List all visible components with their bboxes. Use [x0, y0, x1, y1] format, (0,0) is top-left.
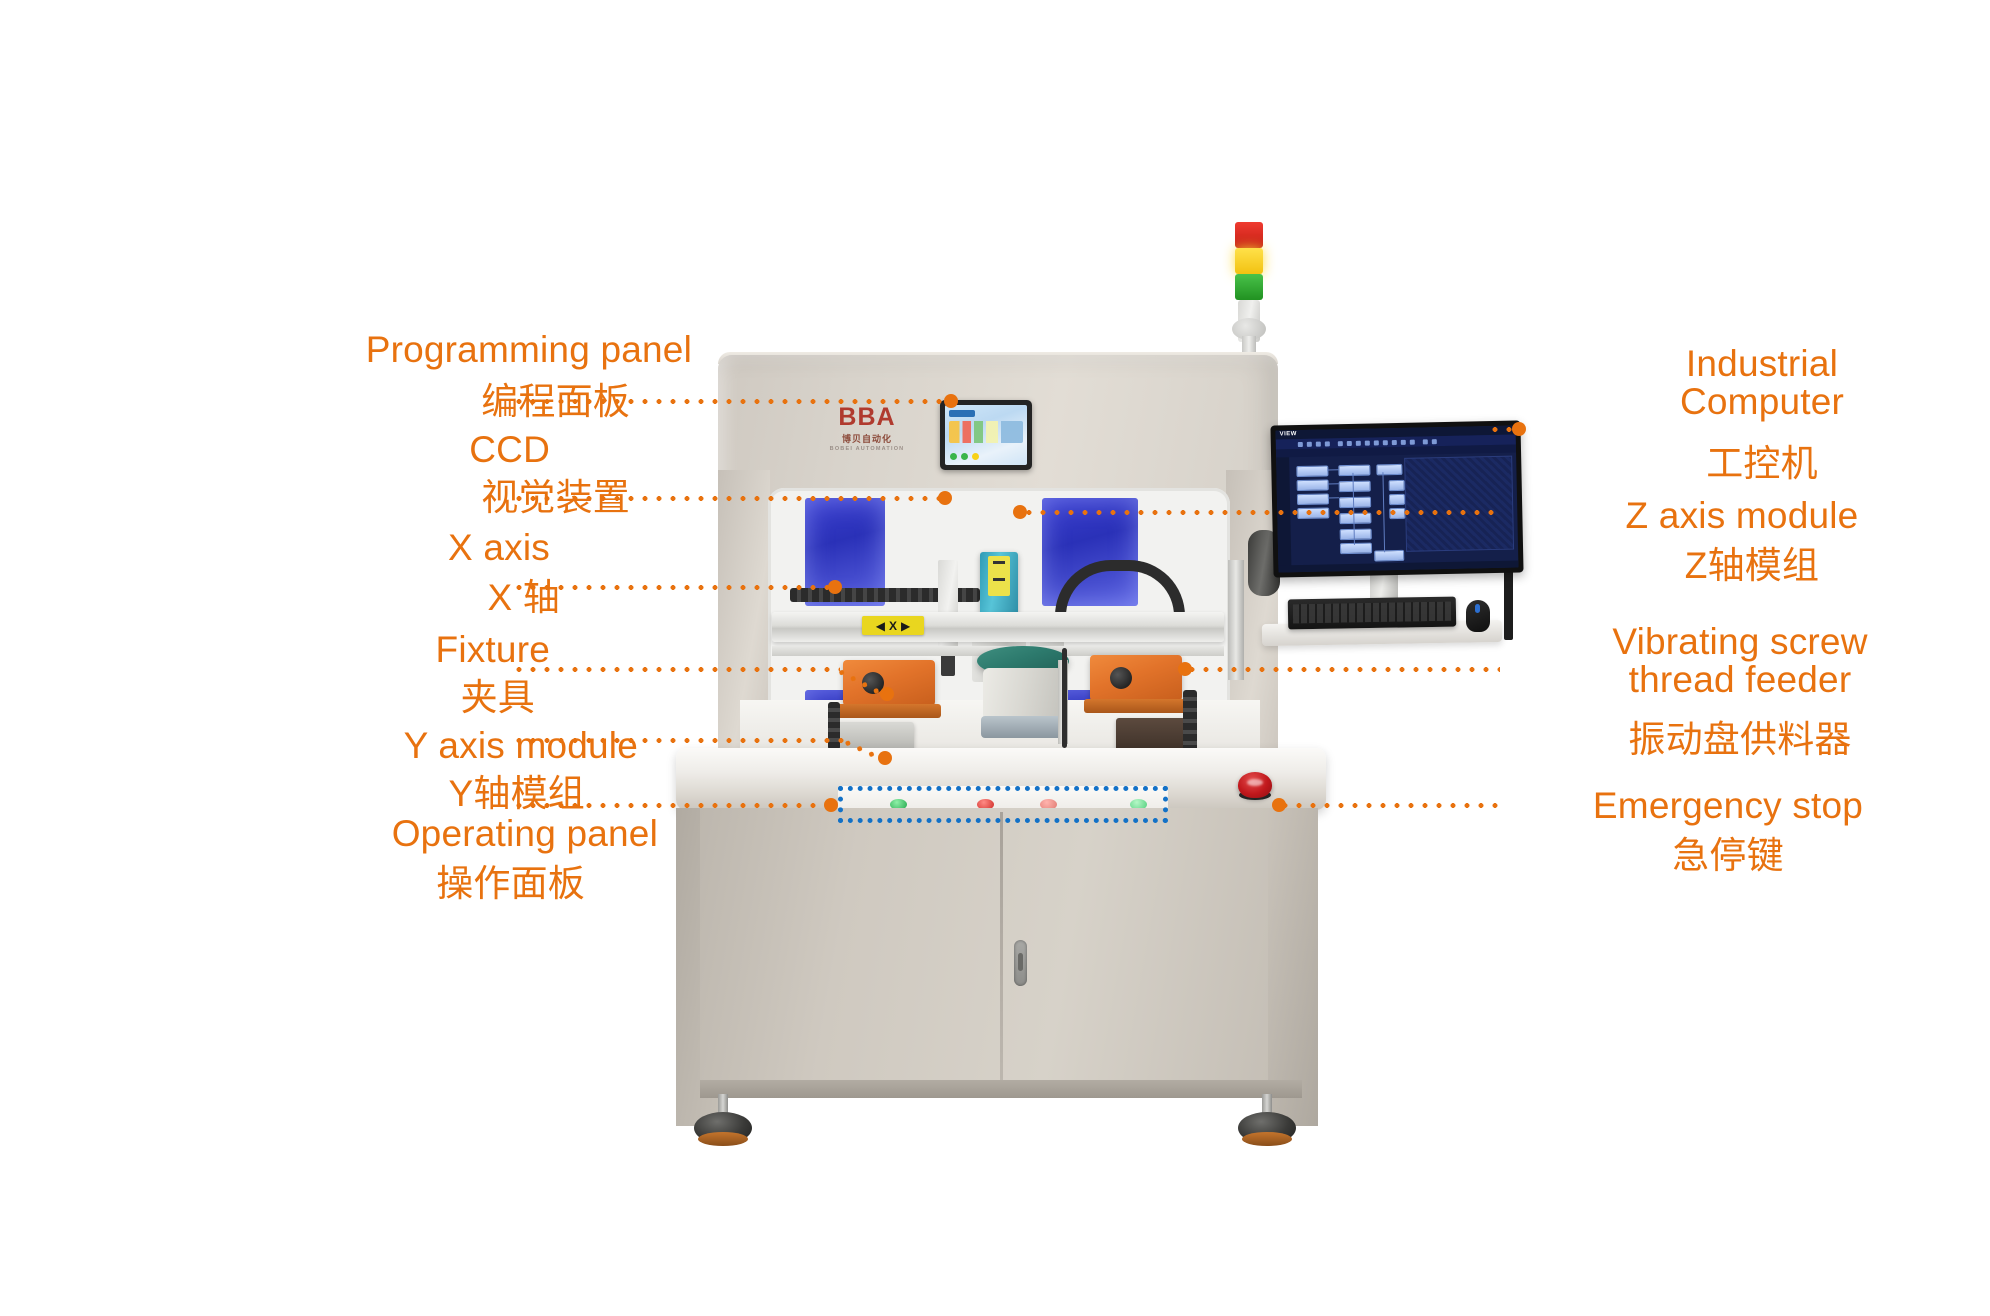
- fixture-right: [1090, 655, 1182, 701]
- fixture-left-base: [837, 704, 941, 718]
- label-x-axis-zh-text: X 轴: [170, 579, 560, 617]
- leader-dot-industrial-computer: [1512, 422, 1526, 436]
- industrial-computer-monitor[interactable]: VIEW: [1270, 420, 1523, 577]
- hmi-screen[interactable]: [945, 405, 1027, 465]
- brand-chinese: 博贝自动化: [812, 432, 922, 445]
- tower-light-green: [1235, 274, 1263, 300]
- leader-dot-x-axis: [828, 580, 842, 594]
- leader-fixture: [512, 667, 840, 672]
- monitor-screen[interactable]: VIEW: [1276, 426, 1519, 573]
- label-vibrating-feeder: Vibrating screw thread feeder: [1520, 606, 1960, 716]
- label-z-axis-module-zh: Z轴模组: [1552, 530, 1952, 602]
- tower-light: [1235, 222, 1263, 318]
- cabinet-door-handle[interactable]: [1014, 940, 1027, 986]
- vibrating-bowl-body: [983, 668, 1063, 720]
- tower-light-red: [1235, 222, 1263, 248]
- leader-dot-emergency-stop: [1272, 798, 1286, 812]
- leader-dot-fixture: [880, 687, 894, 701]
- label-z-axis-module-zh-text: Z轴模组: [1552, 547, 1952, 585]
- leveling-foot-left-ring: [698, 1132, 748, 1146]
- tower-light-yellow: [1235, 248, 1263, 274]
- fixture-right-base: [1084, 699, 1188, 713]
- mouse[interactable]: [1466, 600, 1490, 632]
- monitor-arm-post: [1228, 560, 1244, 680]
- leader-dot-operating-panel: [824, 798, 838, 812]
- leveling-foot-right: [1238, 1094, 1296, 1148]
- x-axis-beam: [772, 612, 1224, 642]
- programming-panel-hmi[interactable]: [940, 400, 1032, 470]
- software-logo: VIEW: [1280, 431, 1297, 437]
- fixture-right-hole: [1110, 667, 1132, 689]
- label-emergency-stop-zh-text: 急停键: [1508, 837, 1948, 875]
- brand-mark: BBA: [812, 405, 922, 430]
- leader-dot-vibrating-feeder: [1178, 662, 1192, 676]
- label-industrial-computer-en: Industrial Computer: [1562, 345, 1962, 422]
- keyboard[interactable]: [1288, 597, 1456, 630]
- hmi-dot-green: [950, 453, 957, 460]
- cabinet-right-side: [1268, 808, 1318, 1126]
- x-axis-letter: X: [889, 619, 897, 633]
- leader-dot-z-axis-module: [1013, 505, 1027, 519]
- leader-dot-programming-panel: [944, 394, 958, 408]
- leveling-foot-left: [694, 1094, 752, 1148]
- hmi-dot-green-2: [961, 453, 968, 460]
- leader-x-axis: [512, 585, 834, 590]
- label-emergency-stop-zh: 急停键: [1508, 820, 1948, 892]
- leader-dot-ccd: [938, 491, 952, 505]
- leader-emergency-stop: [1278, 803, 1500, 808]
- label-vibrating-feeder-zh: 振动盘供料器: [1520, 704, 1960, 776]
- cabinet-base-rail: [700, 1080, 1302, 1098]
- cabinet-door-split: [1000, 812, 1003, 1084]
- vibrating-bowl-base: [981, 716, 1065, 738]
- screw-feed-tube: [1062, 648, 1067, 748]
- label-vibrating-feeder-zh-text: 振动盘供料器: [1520, 721, 1960, 759]
- hmi-status-dots: [950, 453, 979, 460]
- x-arrow-right-icon: ▶: [901, 619, 910, 633]
- monitor-statusbar: [1278, 560, 1518, 572]
- label-programming-panel-en: Programming panel: [172, 331, 692, 369]
- hmi-dot-yellow: [972, 453, 979, 460]
- x-axis-sticker: ◀ X ▶: [862, 616, 924, 635]
- leveling-foot-right-ring: [1242, 1132, 1292, 1146]
- x-arrow-left-icon: ◀: [876, 619, 885, 633]
- label-operating-panel-zh-text: 操作面板: [165, 865, 585, 903]
- z-axis-sticker: [988, 556, 1010, 596]
- operating-panel-highlight-box: [838, 786, 1168, 823]
- label-industrial-computer-zh-text: 工控机: [1562, 445, 1962, 483]
- leader-vibrating-feeder: [1185, 667, 1500, 672]
- monitor-canvas-area[interactable]: [1404, 456, 1514, 552]
- label-vibrating-feeder-en: Vibrating screw thread feeder: [1520, 623, 1960, 700]
- leader-z-axis-module: [1022, 510, 1500, 515]
- diagram-canvas: BBA 博贝自动化 BOBEI AUTOMATION: [0, 0, 1990, 1316]
- emergency-stop-button[interactable]: [1238, 772, 1272, 798]
- leader-dot-y-axis-module: [878, 751, 892, 765]
- y-axis-cable-chain-right: [1183, 690, 1197, 752]
- brand-subtitle: BOBEI AUTOMATION: [812, 446, 922, 452]
- label-industrial-computer: Industrial Computer: [1562, 328, 1962, 438]
- label-operating-panel-zh: 操作面板: [165, 848, 585, 920]
- brand-logo: BBA 博贝自动化 BOBEI AUTOMATION: [812, 405, 922, 452]
